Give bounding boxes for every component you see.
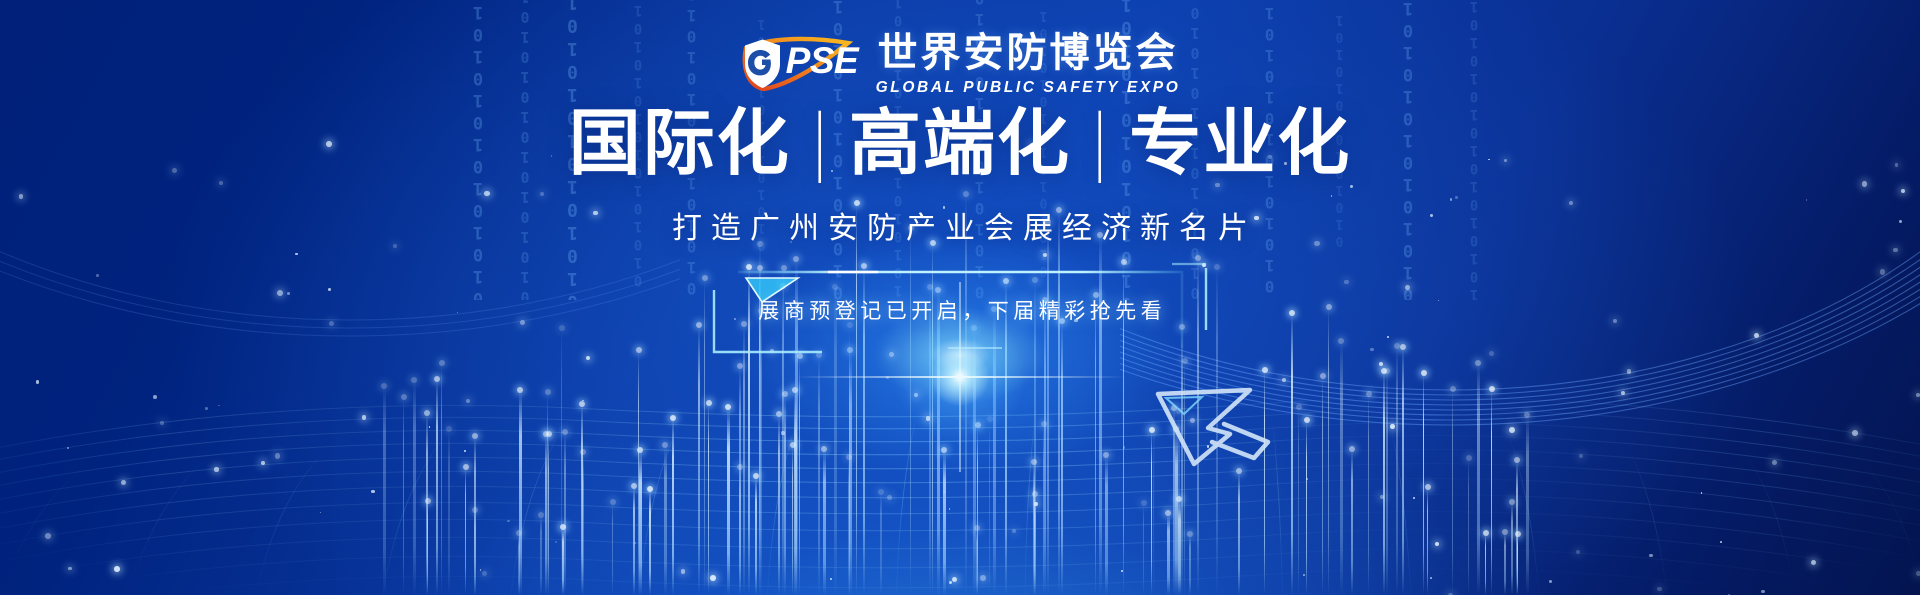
logo-title-cn: 世界安防博览会 — [878, 33, 1179, 73]
psc-expo-banner: 0101010101010101010101010101010101010101… — [0, 0, 1920, 595]
gpse-shield-logo: PSE — [740, 34, 860, 92]
headline-part-1: 国际化 — [569, 101, 791, 185]
headline-part-3: 专业化 — [1129, 101, 1351, 185]
headline: 国际化|高端化|专业化 — [0, 104, 1920, 183]
logo-title-en: GLOBAL PUBLIC SAFETY EXPO — [876, 79, 1181, 97]
headline-separator-2: | — [1095, 102, 1106, 181]
logo-wordmark: PSE — [786, 40, 859, 82]
mouse-pointer-arrow-icon — [1146, 372, 1316, 490]
banner-content: PSE 世界安防博览会 GLOBAL PUBLIC SAFETY EXPO 国际… — [0, 0, 1920, 595]
subheadline: 打造广州安防产业会展经济新名片 — [0, 203, 1920, 247]
logo-lockup: PSE 世界安防博览会 GLOBAL PUBLIC SAFETY EXPO — [0, 34, 1920, 97]
headline-separator-1: | — [814, 102, 825, 181]
headline-part-2: 高端化 — [849, 101, 1071, 185]
cta-panel[interactable]: 展商预登记已开启，下届精彩抢先看 — [702, 262, 1218, 358]
logo-title-block: 世界安防博览会 GLOBAL PUBLIC SAFETY EXPO — [876, 33, 1181, 97]
cta-label: 展商预登记已开启，下届精彩抢先看 — [702, 295, 1218, 325]
